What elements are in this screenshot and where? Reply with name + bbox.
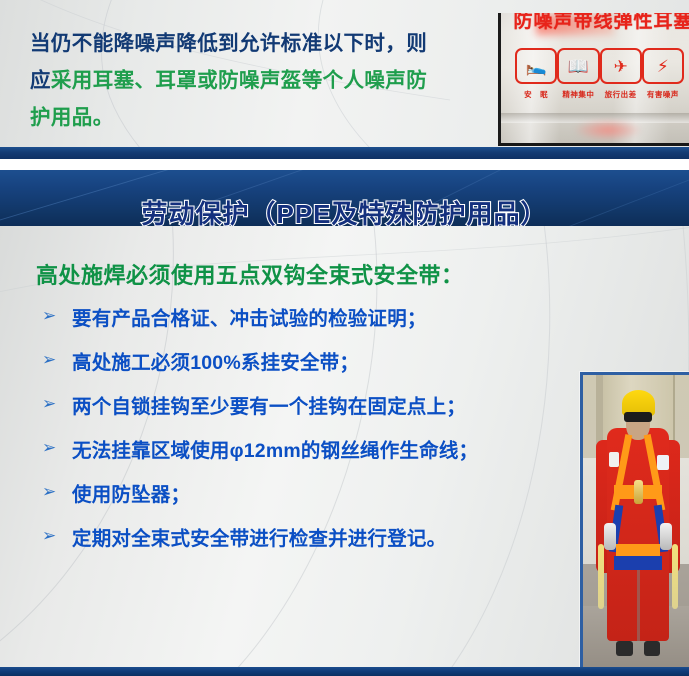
list-item: ➢ 高处施工必须100%系挂安全带； [42,338,642,382]
list-item-label: 要有产品合格证、冲击试验的检验证明； [72,302,427,331]
coverall-patch-right [657,455,669,470]
section-header-band: 劳动保护（PPE及特殊防护用品） [0,170,689,226]
requirement-list: ➢ 要有产品合格证、冲击试验的检验证明； ➢ 高处施工必须100%系挂安全带； … [42,294,642,558]
arrow-bullet-icon: ➢ [42,308,60,324]
earplug-label-noise: 有害噪声 [642,89,684,100]
lanyard-left [598,544,604,609]
lanyard-right [672,544,678,609]
worker-full-body-harness-photo [580,372,689,667]
bottom-slide: 劳动保护（PPE及特殊防护用品） 高处施焊必须使用五点双钩全束式安全带： ➢ 要… [0,170,689,676]
harness-chest-buckle [634,480,644,504]
top-slide-paragraph: 当仍不能降噪声降低到允许标准以下时，则应采用耳塞、耳罩或防噪声盔等个人噪声防护用… [30,25,445,136]
arrow-bullet-icon: ➢ [42,352,60,368]
earplug-package-title: 防噪声带线弹性耳塞 [501,13,689,33]
slide-body: 高处施焊必须使用五点双钩全束式安全带： ➢ 要有产品合格证、冲击试验的检验证明；… [0,226,689,667]
noise-hazard-icon: ⚡ [642,48,684,84]
earplug-package-photo: 防噪声带线弹性耳塞 🛌 📖 ✈ ⚡ 安 眠 精神集中 旅行出差 有害噪声 [498,13,689,146]
list-item: ➢ 使用防坠器； [42,470,642,514]
arrow-bullet-icon: ➢ [42,484,60,500]
earplug-label-focus: 精神集中 [557,89,599,100]
airplane-icon: ✈ [600,48,642,84]
package-pink-smudge [573,119,643,141]
safety-shoe-left [616,641,633,656]
list-item-label: 使用防坠器； [72,478,190,507]
reading-person-icon: 📖 [557,48,599,84]
list-item: ➢ 无法挂靠区域使用φ12mm的钢丝绳作生命线； [42,426,642,470]
earplug-label-sleep: 安 眠 [515,89,557,100]
slide-divider-bar [0,147,689,159]
self-locking-hook-right [660,523,672,550]
section-subtitle: 高处施焊必须使用五点双钩全束式安全带： [36,258,464,290]
bed-icon: 🛌 [515,48,557,84]
slide-gap [0,159,689,170]
earplug-usage-icon-row: 🛌 📖 ✈ ⚡ [515,48,684,84]
page-title: 劳动保护（PPE及特殊防护用品） [0,194,689,226]
top-slide: 当仍不能降噪声降低到允许标准以下时，则应采用耳塞、耳罩或防噪声盔等个人噪声防护用… [0,0,689,147]
earplug-label-travel: 旅行出差 [600,89,642,100]
footer-bar [0,667,689,676]
photo-content [583,375,689,667]
slide-page: 当仍不能降噪声降低到允许标准以下时，则应采用耳塞、耳罩或防噪声盔等个人噪声防护用… [0,0,689,676]
list-item: ➢ 要有产品合格证、冲击试验的检验证明； [42,294,642,338]
top-paragraph-segment-green: 采用耳塞、耳罩或防噪声盔等个人噪声防护用品。 [30,69,427,129]
coverall-patch-left [609,452,619,467]
list-item-label: 定期对全束式安全带进行检查并进行登记。 [72,522,446,551]
list-item: ➢ 定期对全束式安全带进行检查并进行登记。 [42,514,642,558]
safety-goggles-icon [624,412,653,422]
arrow-bullet-icon: ➢ [42,440,60,456]
safety-shoe-right [644,641,661,656]
list-item-label: 无法挂靠区域使用φ12mm的钢丝绳作生命线； [72,434,478,463]
arrow-bullet-icon: ➢ [42,396,60,412]
self-locking-hook-left [604,523,616,550]
earplug-usage-label-row: 安 眠 精神集中 旅行出差 有害噪声 [515,89,684,100]
arrow-bullet-icon: ➢ [42,528,60,544]
worker-leg-gap [637,559,640,642]
list-item: ➢ 两个自锁挂钩至少要有一个挂钩在固定点上； [42,382,642,426]
list-item-label: 两个自锁挂钩至少要有一个挂钩在固定点上； [72,390,466,419]
harness-waist-belt-blue [614,556,662,571]
list-item-label: 高处施工必须100%系挂安全带； [72,346,359,375]
